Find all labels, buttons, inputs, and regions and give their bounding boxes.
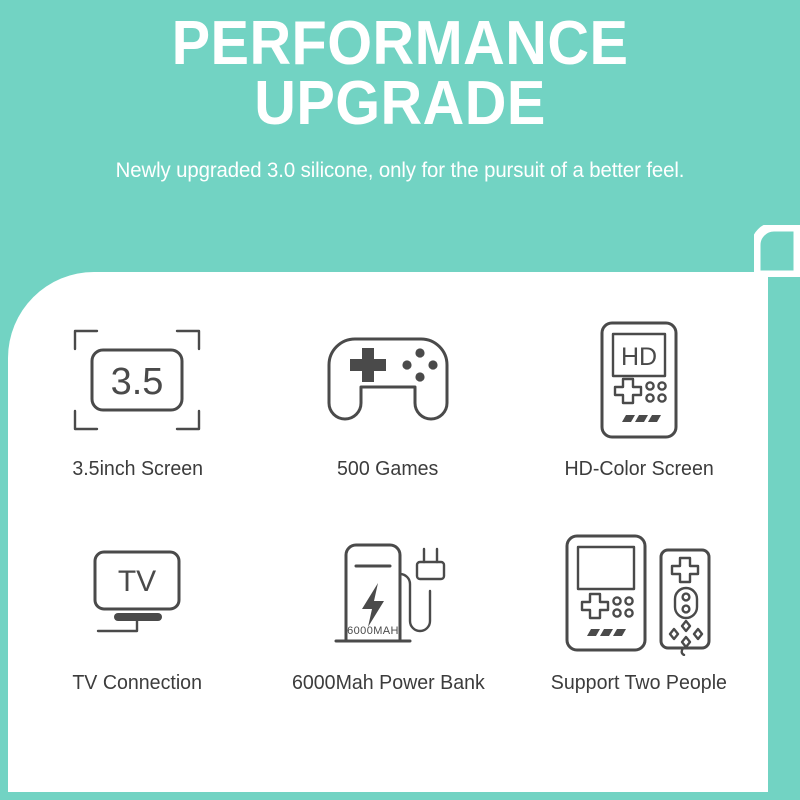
rounded-bracket-logo-icon [754,225,800,277]
title-line-1: PERFORMANCE [28,14,772,74]
feature-item-tv: TV TV Connection [12,534,263,748]
feature-item-power-bank: 6000MAH 6000Mah Power Bank [263,534,514,748]
two-player-icon [555,534,723,654]
feature-item-hd-screen: HD HD-Color Screen [513,320,764,534]
feature-label-two-player: Support Two People [551,672,727,695]
hd-screen-value: HD [621,343,657,371]
feature-label-screen-size: 3.5inch Screen [72,458,203,481]
poster-root: PERFORMANCE UPGRADE Newly upgraded 3.0 s… [0,0,800,800]
feature-label-games: 500 Games [337,458,438,481]
tv-value: TV [118,565,156,598]
feature-item-games: 500 Games [263,320,514,534]
feature-label-power-bank: 6000Mah Power Bank [292,672,485,695]
feature-panel: 3.5 3.5inch Screen [8,272,768,792]
feature-item-screen-size: 3.5 3.5inch Screen [12,320,263,534]
screen-size-value: 3.5 [111,361,164,403]
page-title: PERFORMANCE UPGRADE [28,14,772,133]
title-line-2: UPGRADE [28,74,772,134]
feature-grid: 3.5 3.5inch Screen [8,272,768,792]
feature-item-two-player: Support Two People [513,534,764,748]
subtitle: Newly upgraded 3.0 silicone, only for th… [12,133,788,183]
power-bank-icon: 6000MAH [318,534,458,654]
handheld-console-icon: HD [586,320,692,440]
power-bank-capacity: 6000MAH [347,625,399,637]
screen-size-icon: 3.5 [67,320,207,440]
gamepad-icon [323,320,453,440]
feature-label-tv: TV Connection [72,672,202,695]
television-icon: TV [74,534,200,654]
feature-label-hd-screen: HD-Color Screen [564,458,713,481]
header-banner: PERFORMANCE UPGRADE Newly upgraded 3.0 s… [0,0,800,270]
